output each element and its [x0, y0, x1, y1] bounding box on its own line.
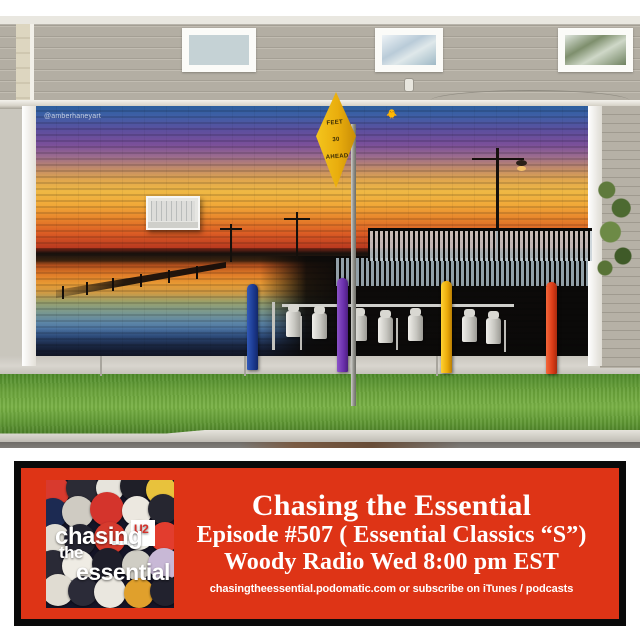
shrub [596, 166, 632, 286]
bollard-purple [337, 278, 348, 372]
podcast-title: Chasing the Essential [180, 490, 603, 522]
ac-grille [151, 201, 195, 221]
mural-pier-post [168, 270, 170, 283]
gas-pipe [300, 316, 302, 350]
mural-artist-signature: @amberhaneyart [44, 113, 101, 120]
gas-pipe [396, 318, 398, 350]
gas-meter [462, 316, 477, 342]
mural-pier-post [140, 274, 142, 287]
sidewalk-seam [436, 356, 438, 376]
bollard-yellow [441, 281, 452, 373]
lawn-grass [0, 374, 640, 434]
gas-pipe [504, 320, 506, 352]
wall-light-fixture [404, 78, 414, 92]
mural-lamp-glow [517, 166, 526, 171]
episode-info-panel: U2 chasing the essential Chasing the Ess… [14, 461, 626, 626]
wall-trim-left [22, 106, 36, 366]
upper-sidewalk [0, 356, 640, 376]
mural-pole-crossarm [220, 228, 242, 230]
gas-meter [378, 317, 393, 343]
mural-pier-post [196, 266, 198, 279]
gas-meter [312, 313, 327, 339]
bollard-orange [546, 282, 557, 374]
gas-riser-pipe [272, 302, 275, 350]
mural-lamp-crossarm [472, 158, 524, 160]
podcast-cover-art[interactable]: U2 chasing the essential [46, 480, 174, 608]
episode-line: Episode #507 ( Essential Classics “S”) [180, 522, 603, 549]
station-schedule-line: Woody Radio Wed 8:00 pm EST [180, 549, 603, 576]
house-window-3 [558, 28, 633, 72]
house-window-2 [375, 28, 443, 72]
road-debris [240, 442, 460, 448]
gas-meter [286, 311, 301, 337]
siding-top-trim [0, 16, 640, 25]
sidewalk-seam [100, 356, 102, 376]
mural-photograph: 🐥 @amberhaneyart [0, 16, 640, 448]
cover-art-word-essential: essential [76, 559, 170, 586]
gas-meter [486, 318, 501, 344]
mural-pole-crossarm [284, 218, 310, 220]
sign-post [351, 124, 356, 406]
mural-pier-post [62, 286, 64, 299]
house-window-1 [182, 28, 256, 72]
cover-art-wordmark: U2 chasing the essential [46, 480, 174, 608]
gas-meter [408, 315, 423, 341]
sidewalk-seam [244, 356, 246, 376]
mural-pier-post [112, 278, 114, 291]
podcast-poster: 🐥 @amberhaneyart [0, 0, 640, 640]
metal-fence [368, 228, 592, 261]
ac-base [148, 222, 198, 228]
website-subscribe-line[interactable]: chasingtheessential.podomatic.com or sub… [180, 582, 603, 596]
mural-bird: 🐥 [386, 110, 397, 119]
episode-details: Chasing the Essential Episode #507 ( Ess… [174, 490, 619, 596]
corner-shingle [16, 24, 34, 104]
bollard-blue [247, 284, 258, 370]
mural-pier-post [86, 282, 88, 295]
air-conditioner-unit [146, 196, 200, 230]
